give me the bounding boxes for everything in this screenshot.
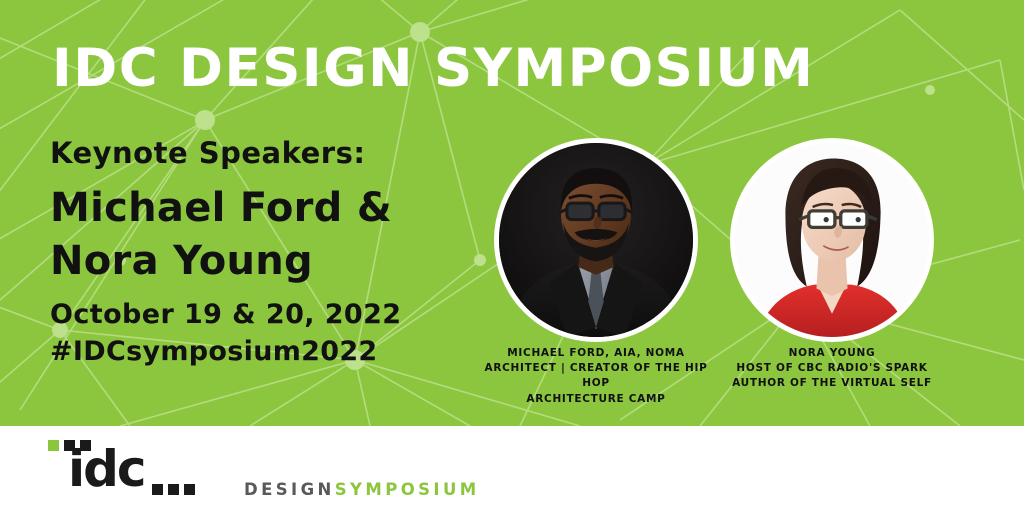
caption-line-1: MICHAEL FORD, AIA, NOMA: [470, 346, 722, 361]
caption-nora-young: NORA YOUNG HOST OF CBC RADIO'S SPARK AUT…: [712, 346, 952, 392]
idc-design-symposium-logo: idc DESIGNSYMPOSIUM: [48, 440, 200, 498]
avatar-nora-young: [730, 138, 934, 342]
idc-logomark: idc: [48, 440, 200, 498]
caption-line-3: AUTHOR OF THE VIRTUAL SELF: [712, 376, 952, 391]
avatar-michael-ford: [494, 138, 698, 342]
logo-tagline-symposium: SYMPOSIUM: [335, 480, 480, 499]
caption-line-3: ARCHITECTURE CAMP: [470, 392, 722, 407]
keynote-kicker: Keynote Speakers:: [50, 138, 470, 170]
caption-line-2: ARCHITECT | CREATOR OF THE HIP HOP: [470, 361, 722, 391]
logo-square-dark-5: [184, 484, 195, 495]
caption-line-2: HOST OF CBC RADIO'S SPARK: [712, 361, 952, 376]
logo-wordmark-idc: idc: [68, 444, 145, 494]
footer-bar: idc DESIGNSYMPOSIUM: [0, 426, 1024, 512]
caption-line-1: NORA YOUNG: [712, 346, 952, 361]
keynote-speaker-names: Michael Ford & Nora Young: [50, 182, 470, 288]
poster-canvas: IDC DESIGN SYMPOSIUM Keynote Speakers: M…: [0, 0, 1024, 512]
caption-michael-ford: MICHAEL FORD, AIA, NOMA ARCHITECT | CREA…: [470, 346, 722, 407]
speaker-name-line-2: Nora Young: [50, 235, 470, 288]
logo-tagline-design: DESIGN: [244, 480, 335, 499]
nora-young-portrait-image: [735, 143, 929, 337]
speaker-name-line-1: Michael Ford &: [50, 182, 470, 235]
keynote-text-block: Keynote Speakers: Michael Ford & Nora Yo…: [50, 138, 470, 370]
event-dates: October 19 & 20, 2022: [50, 297, 470, 333]
banner-background: IDC DESIGN SYMPOSIUM Keynote Speakers: M…: [0, 0, 1024, 426]
logo-tagline: DESIGNSYMPOSIUM: [244, 480, 480, 499]
logo-square-dark-4: [168, 484, 179, 495]
michael-ford-portrait-image: [499, 143, 693, 337]
logo-square-green: [48, 440, 59, 451]
page-title: IDC DESIGN SYMPOSIUM: [52, 42, 814, 95]
event-hashtag: #IDCsymposium2022: [50, 334, 470, 370]
logo-square-dark-3: [152, 484, 163, 495]
